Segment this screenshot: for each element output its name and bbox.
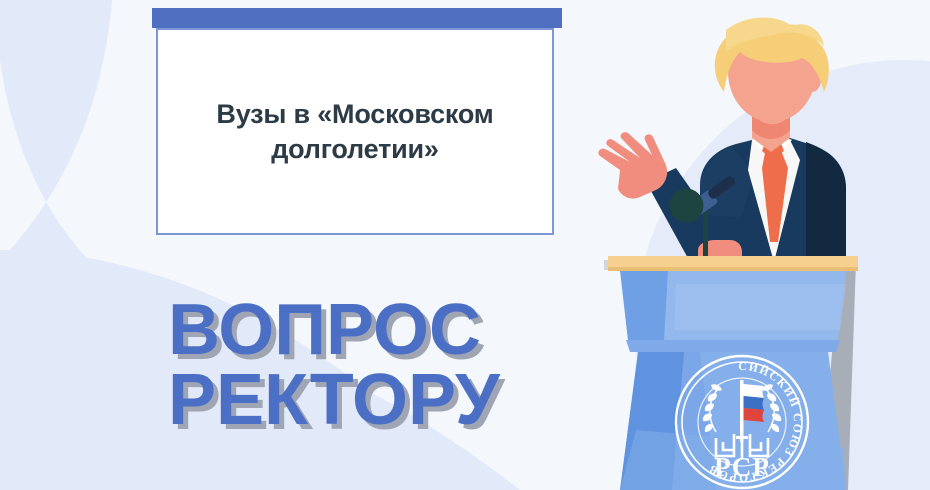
emblem-laurel-right: [762, 384, 781, 432]
emblem-flag-white-stripe: [744, 384, 765, 398]
speaker-suit-shade: [806, 142, 846, 262]
speaker-figure: [598, 17, 846, 280]
speaker-hand-shape: [598, 132, 667, 198]
speaker-hand: [598, 132, 667, 198]
emblem-monument-cap: [736, 436, 748, 439]
podium-top-slab-edge: [608, 267, 858, 271]
emblem-abbreviation: РСР: [714, 452, 770, 482]
podium-neck: [626, 340, 840, 352]
emblem-flag-red-stripe: [744, 408, 765, 422]
rsr-emblem: РОССИЙСКИЙ СОЮЗ РЕКТОРОВ: [672, 352, 812, 490]
microphone-stem: [703, 205, 708, 263]
podium-upper-panel: [674, 284, 846, 330]
rsr-emblem-svg: РОССИЙСКИЙ СОЮЗ РЕКТОРОВ: [672, 352, 812, 490]
emblem-russian-flag: [744, 384, 765, 422]
podium-upper-box-shade: [620, 270, 668, 340]
emblem-laurel-left: [703, 384, 722, 432]
emblem-flag-blue-stripe: [744, 396, 765, 410]
banner-canvas: Вузы в «Московском долголетии» ВОПРОС РЕ…: [0, 0, 930, 490]
